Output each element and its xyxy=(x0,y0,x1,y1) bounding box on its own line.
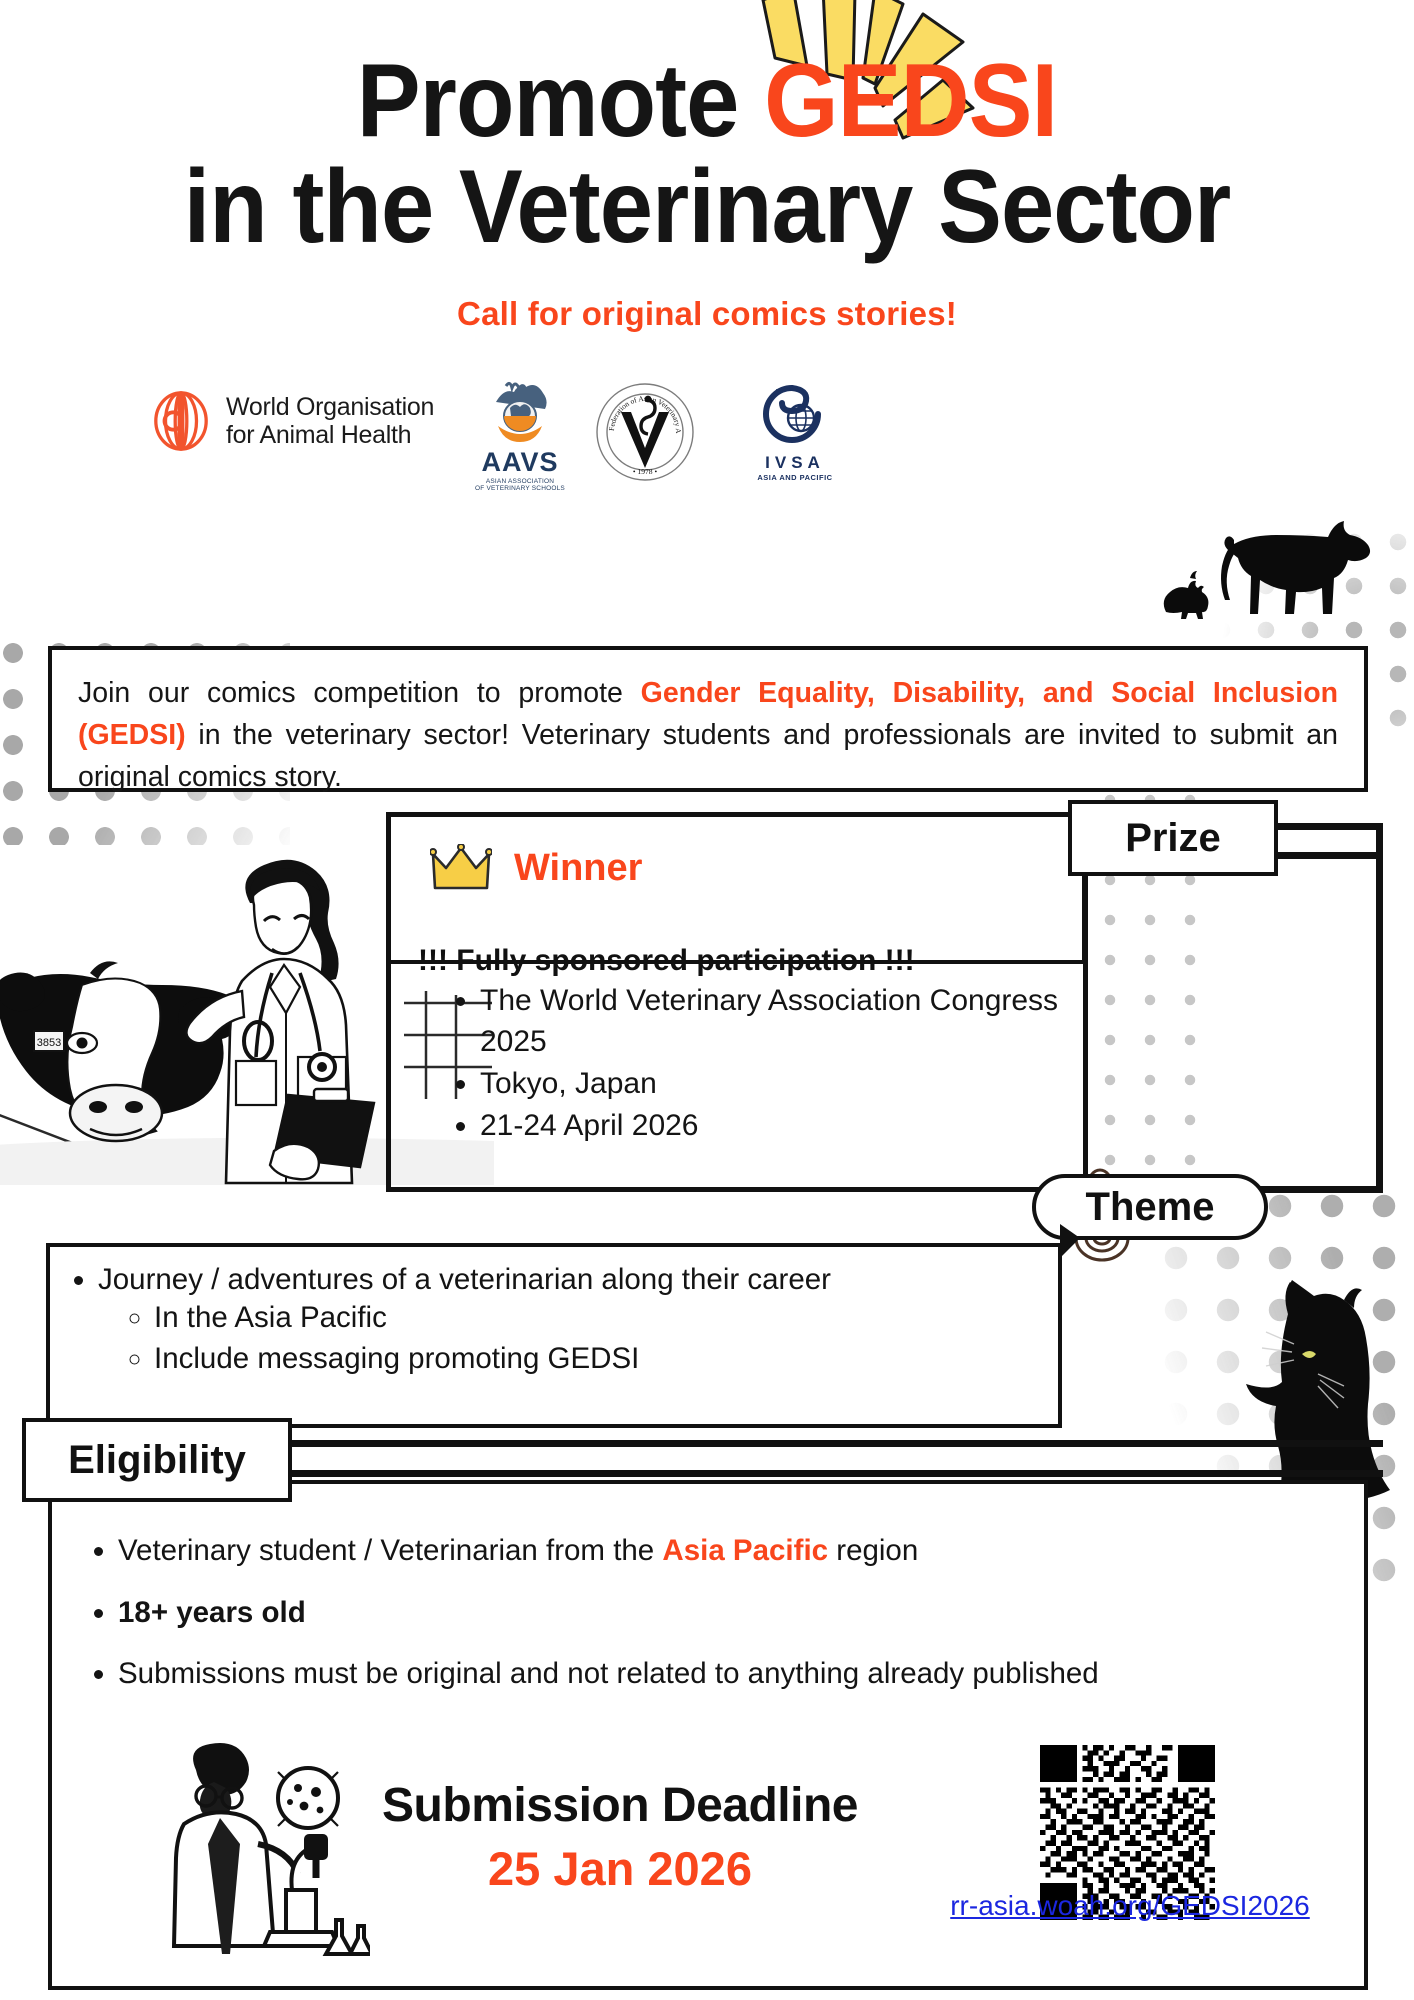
poster-root: Promote GEDSI in the Veterinary Sector C… xyxy=(0,0,1414,2000)
theme-sub-item: Include messaging promoting GEDSI xyxy=(154,1344,1058,1374)
prize-item: The World Veterinary Association Congres… xyxy=(480,980,1080,1062)
winner-row: Winner xyxy=(430,844,1060,892)
eligibility-list: Veterinary student / Veterinarian from t… xyxy=(84,1536,1364,1689)
svg-text:3853: 3853 xyxy=(37,1037,61,1049)
theme-box: Journey / adventures of a veterinarian a… xyxy=(46,1243,1062,1428)
theme-sub-item: In the Asia Pacific xyxy=(154,1303,1058,1333)
theme-list: Journey / adventures of a veterinarian a… xyxy=(68,1265,1058,1374)
eligibility-connector-bottom xyxy=(288,1470,1383,1477)
deadline-block: Submission Deadline 25 Jan 2026 xyxy=(360,1778,880,1896)
farm-silhouettes xyxy=(1150,500,1390,620)
logo-woah: World Organisation for Animal Health xyxy=(150,390,434,452)
intro-part-1: Join our comics competition to promote xyxy=(78,677,641,709)
prize-details: !!! Fully sponsored participation !!! Th… xyxy=(400,940,1080,1147)
woah-line-2: for Animal Health xyxy=(226,421,434,450)
ivsa-subtitle: ASIA AND PACIFIC xyxy=(745,473,845,482)
winner-label: Winner xyxy=(514,847,642,890)
aavs-subtitle: ASIAN ASSOCIATION OF VETERINARY SCHOOLS xyxy=(475,478,565,493)
woah-wordmark: World Organisation for Animal Health xyxy=(226,393,434,450)
aavs-sub-1: ASIAN ASSOCIATION xyxy=(475,478,565,485)
scientist-with-microscope-illustration xyxy=(140,1740,370,1970)
intro-box: Join our comics competition to promote G… xyxy=(48,646,1368,792)
theme-main-text: Journey / adventures of a veterinarian a… xyxy=(98,1263,831,1296)
prize-item: 21-24 April 2026 xyxy=(480,1105,1080,1146)
logo-aavs: AAVS ASIAN ASSOCIATION OF VETERINARY SCH… xyxy=(475,380,565,484)
intro-text: Join our comics competition to promote G… xyxy=(78,672,1338,799)
title-promote: Promote xyxy=(357,43,764,159)
chicken-silhouette xyxy=(1164,571,1209,619)
prize-item: Tokyo, Japan xyxy=(480,1063,1080,1104)
prize-sponsored-line: !!! Fully sponsored participation !!! xyxy=(418,944,1080,978)
aavs-emblem-icon xyxy=(476,380,564,444)
intro-part-2: in the veterinary sector! Veterinary stu… xyxy=(78,719,1338,793)
eligibility-connector-top xyxy=(288,1440,1383,1447)
theme-main-item: Journey / adventures of a veterinarian a… xyxy=(98,1265,1058,1374)
theme-sub-list: In the Asia Pacific Include messaging pr… xyxy=(124,1303,1058,1374)
crown-icon xyxy=(430,844,492,892)
ivsa-snake-globe-icon xyxy=(756,384,834,446)
eligibility-highlight: Asia Pacific xyxy=(662,1534,828,1567)
aavs-sub-2: OF VETERINARY SCHOOLS xyxy=(475,485,565,492)
prize-item-list: The World Veterinary Association Congres… xyxy=(456,980,1080,1146)
poster-title: Promote GEDSI in the Veterinary Sector xyxy=(0,48,1414,260)
title-line-1: Promote GEDSI xyxy=(57,48,1358,154)
logo-row: World Organisation for Animal Health AAV… xyxy=(130,380,890,490)
logo-fava: Federation of Asian Veterinary Associati… xyxy=(595,382,695,482)
submission-link[interactable]: rr-asia.woah.org/GEDSI2026 xyxy=(940,1890,1320,1922)
deadline-label: Submission Deadline xyxy=(360,1778,880,1833)
theme-tab-label: Theme xyxy=(1032,1174,1268,1240)
eligibility-tab-label: Eligibility xyxy=(22,1418,292,1502)
eligibility-item: Submissions must be original and not rel… xyxy=(118,1659,1364,1689)
prize-connector-right-bottom xyxy=(1272,852,1382,859)
woah-globe-icon xyxy=(150,390,212,452)
deadline-date: 25 Jan 2026 xyxy=(360,1841,880,1896)
aavs-acronym: AAVS xyxy=(475,449,565,476)
title-gedsi: GEDSI xyxy=(764,43,1057,159)
eligibility-item: 18+ years old xyxy=(118,1598,1364,1628)
woah-line-1: World Organisation xyxy=(226,393,434,422)
title-line-2: in the Veterinary Sector xyxy=(57,154,1358,260)
cow-silhouette xyxy=(1221,521,1370,614)
ivsa-acronym: IVSA xyxy=(745,453,845,473)
eligibility-text-before: Veterinary student / Veterinarian from t… xyxy=(118,1534,662,1567)
poster-subtitle: Call for original comics stories! xyxy=(0,295,1414,333)
prize-connector-right-top xyxy=(1272,823,1382,830)
eligibility-text-after: region xyxy=(828,1534,918,1567)
logo-ivsa: IVSA ASIA AND PACIFIC xyxy=(745,384,845,484)
prize-tab-label: Prize xyxy=(1068,800,1278,876)
eligibility-item: Veterinary student / Veterinarian from t… xyxy=(118,1536,1364,1566)
prize-right-rail xyxy=(1376,823,1383,1193)
fava-year: • 1978 • xyxy=(633,467,658,476)
